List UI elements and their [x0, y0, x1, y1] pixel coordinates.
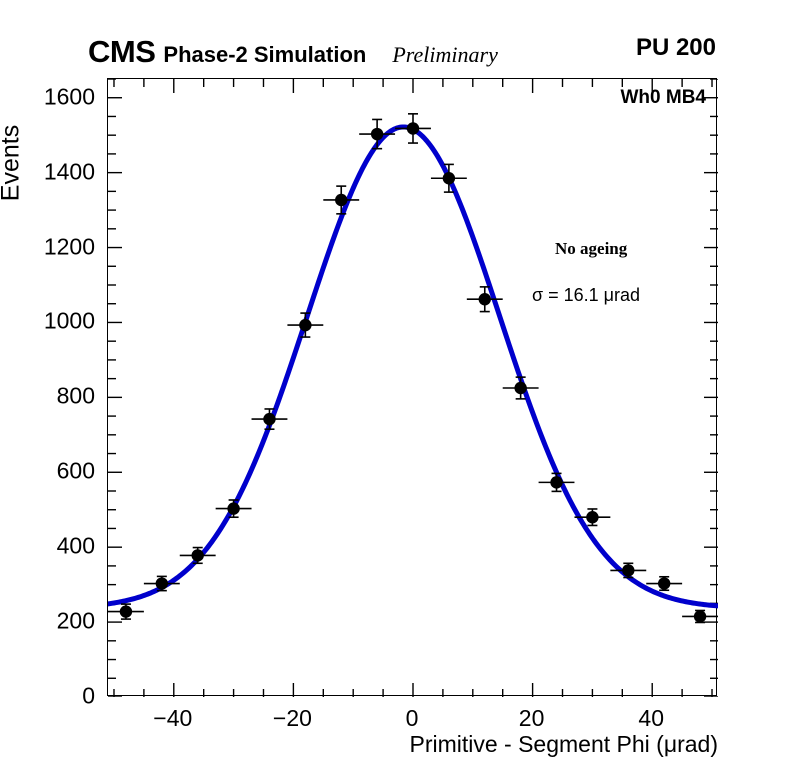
y-tick-label: 1000	[0, 308, 95, 335]
y-tick-label: 1400	[0, 158, 95, 185]
x-tick-label: 40	[638, 705, 664, 732]
chart-header: CMS Phase-2 Simulation Preliminary PU 20…	[0, 36, 796, 70]
annotation-sigma: σ = 16.1 μrad	[532, 285, 640, 306]
data-point	[108, 604, 144, 619]
data-point	[216, 500, 252, 517]
preliminary-label: Preliminary	[392, 44, 498, 66]
cms-logo-text: CMS	[88, 36, 155, 67]
data-point	[180, 548, 216, 564]
pileup-label: PU 200	[636, 36, 716, 60]
data-point	[431, 164, 467, 192]
chart-root: CMS Phase-2 Simulation Preliminary PU 20…	[0, 0, 796, 772]
plot-frame: Wh0 MB4 No ageing σ = 16.1 μrad	[107, 78, 717, 696]
y-tick-label: 1200	[0, 233, 95, 260]
y-tick-label: 400	[0, 533, 95, 560]
y-tick-label: 800	[0, 383, 95, 410]
data-points	[108, 114, 718, 623]
data-point	[682, 610, 718, 622]
plot-canvas	[108, 79, 718, 697]
annotation-ageing: No ageing	[555, 239, 627, 259]
gaussian-fit-curve	[108, 127, 718, 606]
x-tick-label: 20	[519, 705, 545, 732]
y-tick-label: 200	[0, 608, 95, 635]
x-axis-title: Primitive - Segment Phi (μrad)	[0, 731, 796, 758]
simulation-label: Phase-2 Simulation	[163, 44, 366, 66]
x-tick-label: −40	[153, 705, 192, 732]
data-point	[287, 313, 323, 337]
y-tick-label: 0	[0, 683, 95, 710]
data-point	[252, 409, 288, 429]
data-point	[503, 377, 539, 399]
data-point	[539, 473, 575, 491]
data-point	[359, 119, 395, 148]
cms-header-group: CMS Phase-2 Simulation Preliminary	[88, 36, 498, 67]
y-tick-label: 600	[0, 458, 95, 485]
chamber-label: Wh0 MB4	[621, 87, 707, 109]
x-tick-label: −20	[273, 705, 312, 732]
y-tick-label: 1600	[0, 83, 95, 110]
axis-ticks	[108, 79, 718, 697]
x-tick-label: 0	[406, 705, 419, 732]
